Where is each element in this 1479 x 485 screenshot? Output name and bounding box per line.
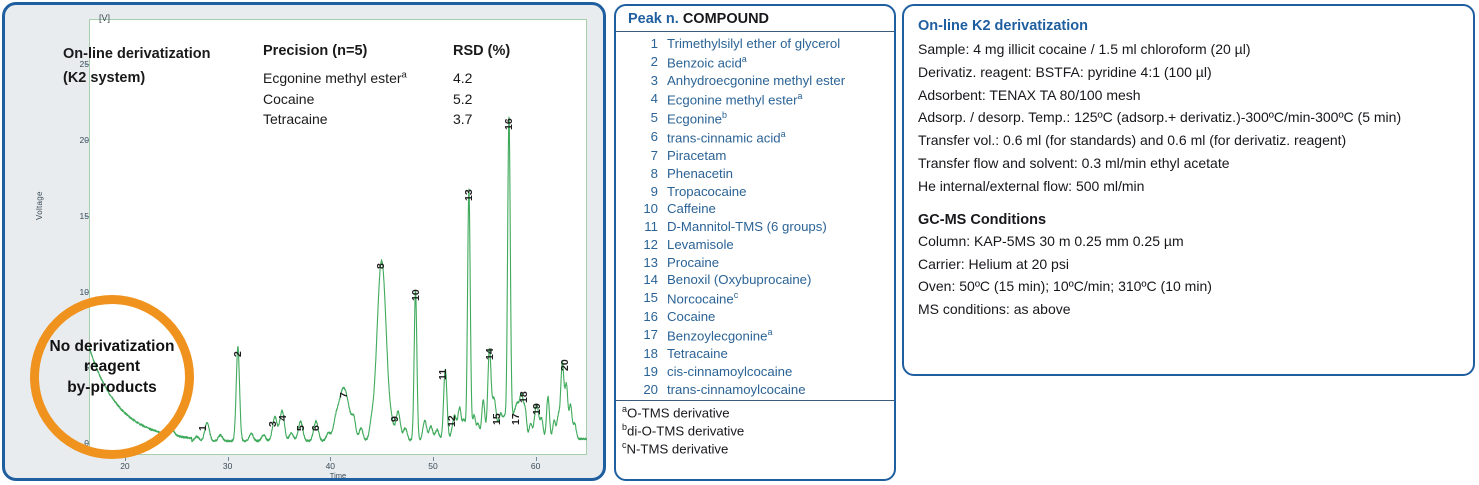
peak-number-header: Peak n.	[628, 11, 679, 27]
peak-item-number: 8	[616, 165, 667, 183]
peak-item-number: 2	[616, 53, 667, 72]
precision-rsd-value: 3.7	[453, 109, 553, 130]
precision-compound: Tetracaine	[263, 109, 453, 130]
overlay-title-line2: (K2 system)	[63, 67, 263, 91]
rsd-value-list: 4.25.23.7	[453, 68, 553, 130]
peak-number-label: 10	[410, 289, 422, 301]
peak-number-label: 13	[463, 189, 475, 201]
peak-item-compound: Ecgonine methyl estera	[667, 90, 894, 109]
peak-list-item[interactable]: 12Levamisole	[616, 236, 894, 254]
peak-list-item[interactable]: 18Tetracaine	[616, 345, 894, 363]
condition-line: Derivatiz. reagent: BSTFA: pyridine 4:1 …	[918, 61, 1459, 84]
x-tick-label: 60	[531, 461, 540, 471]
precision-compound: Cocaine	[263, 89, 453, 110]
peak-list-item[interactable]: 20trans-cinnamoylcocaine	[616, 381, 894, 399]
peak-number-label: 2	[232, 351, 244, 357]
peak-item-number: 3	[616, 72, 667, 90]
precision-name-list: Ecgonine methyl esteraCocaineTetracaine	[263, 68, 453, 130]
condition-line: He internal/external flow: 500 ml/min	[918, 175, 1459, 198]
peak-list-item[interactable]: 11D-Mannitol-TMS (6 groups)	[616, 218, 894, 236]
peak-item-number: 11	[616, 218, 667, 236]
footnote-marker: c	[734, 290, 738, 300]
rsd-header: RSD (%)	[453, 43, 553, 59]
peak-item-compound: Benzoylecgoninea	[667, 326, 894, 345]
peak-item-compound: trans-cinnamic acida	[667, 128, 894, 147]
peak-item-number: 4	[616, 90, 667, 109]
y-tick-label: 10	[55, 287, 89, 297]
gcms-condition-line: Column: KAP-5MS 30 m 0.25 mm 0.25 µm	[918, 230, 1459, 253]
peak-list-item[interactable]: 15Norcocainec	[616, 289, 894, 308]
x-tick-mark	[536, 457, 537, 461]
chromatogram-panel: [V] Voltage 0510152025 2030405060 Time 1…	[2, 2, 606, 481]
condition-line: Adsorbent: TENAX TA 80/100 mesh	[918, 84, 1459, 107]
condition-line: Transfer flow and solvent: 0.3 ml/min et…	[918, 152, 1459, 175]
peak-number-label: 3	[267, 421, 279, 427]
peak-item-compound: Procaine	[667, 254, 894, 272]
peak-item-number: 5	[616, 109, 667, 128]
peak-list-item[interactable]: 10Caffeine	[616, 200, 894, 218]
peak-number-label: 9	[389, 416, 401, 422]
peak-item-number: 6	[616, 128, 667, 147]
footnote-marker: a	[622, 404, 627, 414]
peak-item-compound: trans-cinnamoylcocaine	[667, 381, 894, 399]
peak-number-label: 15	[491, 413, 503, 425]
peak-item-compound: Benzoic acida	[667, 53, 894, 72]
peak-item-compound: Trimethylsilyl ether of glycerol	[667, 35, 894, 53]
x-tick-label: 20	[120, 461, 129, 471]
x-tick-mark	[330, 457, 331, 461]
footnote-line: bdi-O-TMS derivative	[622, 422, 894, 440]
peak-number-label: 7	[338, 392, 350, 398]
peak-number-label: 12	[446, 415, 458, 427]
footnote-marker: a	[797, 91, 802, 101]
peak-number-label: 18	[518, 392, 530, 404]
x-tick-mark	[228, 457, 229, 461]
peak-number-label: 19	[531, 403, 543, 415]
gcms-line-list: Column: KAP-5MS 30 m 0.25 mm 0.25 µmCarr…	[918, 230, 1459, 321]
peak-table-header: Peak n. COMPOUND	[616, 6, 894, 32]
peak-item-compound: Caffeine	[667, 200, 894, 218]
peak-list-item[interactable]: 7Piracetam	[616, 147, 894, 165]
peak-number-label: 6	[310, 425, 322, 431]
peak-number-label: 11	[437, 369, 449, 380]
peak-list-item[interactable]: 4Ecgonine methyl estera	[616, 90, 894, 109]
precision-column: Precision (n=5) Ecgonine methyl esteraCo…	[263, 43, 453, 130]
gcms-condition-line: Carrier: Helium at 20 psi	[918, 253, 1459, 276]
peak-item-number: 19	[616, 363, 667, 381]
y-tick-label: 15	[55, 211, 89, 221]
peak-list-item[interactable]: 3Anhydroecgonine methyl ester	[616, 72, 894, 90]
peak-item-number: 18	[616, 345, 667, 363]
x-tick-label: 30	[223, 461, 232, 471]
peak-item-number: 12	[616, 236, 667, 254]
overlay-title: On-line derivatization (K2 system)	[63, 43, 263, 91]
peak-item-number: 13	[616, 254, 667, 272]
peak-item-number: 9	[616, 183, 667, 201]
conditions-title: On-line K2 derivatization	[918, 18, 1459, 34]
peak-number-label: 1	[197, 425, 209, 431]
conditions-line-list: Sample: 4 mg illicit cocaine / 1.5 ml ch…	[918, 38, 1459, 198]
peak-list-item[interactable]: 17Benzoylecgoninea	[616, 326, 894, 345]
footnote-marker: a	[742, 54, 747, 64]
peak-list-item[interactable]: 2Benzoic acida	[616, 53, 894, 72]
peak-item-number: 10	[616, 200, 667, 218]
peak-item-compound: Tropacocaine	[667, 183, 894, 201]
annotation-line-1: No derivatization	[13, 337, 211, 357]
precision-rsd-value: 4.2	[453, 68, 553, 89]
footnote-marker: a	[781, 129, 786, 139]
peak-item-number: 17	[616, 326, 667, 345]
footnote-line: aO-TMS derivative	[622, 404, 894, 422]
peak-list-item[interactable]: 5Ecgonineb	[616, 109, 894, 128]
precision-compound: Ecgonine methyl estera	[263, 68, 453, 89]
peak-item-number: 7	[616, 147, 667, 165]
peak-list-item[interactable]: 1Trimethylsilyl ether of glycerol	[616, 35, 894, 53]
x-tick-label: 40	[326, 461, 335, 471]
y-axis-label: Voltage	[35, 191, 44, 220]
gcms-condition-line: MS conditions: as above	[918, 298, 1459, 321]
footnote-marker: a	[402, 69, 407, 80]
peak-item-compound: Phenacetin	[667, 165, 894, 183]
gcms-title: GC-MS Conditions	[918, 212, 1459, 228]
footnote-line: cN-TMS derivative	[622, 440, 894, 458]
peak-number-label: 5	[295, 425, 307, 431]
annotation-line-3: by-products	[13, 378, 211, 398]
conditions-spacer	[918, 198, 1459, 212]
peak-item-number: 16	[616, 308, 667, 326]
peak-list-item[interactable]: 14Benoxil (Oxybuprocaine)	[616, 271, 894, 289]
footnote-marker: b	[622, 422, 627, 432]
footnote-marker: c	[622, 440, 626, 450]
condition-line: Transfer vol.: 0.6 ml (for standards) an…	[918, 129, 1459, 152]
peak-item-compound: cis-cinnamoylcocaine	[667, 363, 894, 381]
annotation-line-2: reagent	[13, 357, 211, 377]
peak-item-number: 15	[616, 289, 667, 308]
peak-item-compound: D-Mannitol-TMS (6 groups)	[667, 218, 894, 236]
peak-item-number: 20	[616, 381, 667, 399]
y-tick-label: 20	[55, 135, 89, 145]
gcms-condition-line: Oven: 50ºC (15 min); 10ºC/min; 310ºC (10…	[918, 275, 1459, 298]
overlay-title-line1: On-line derivatization	[63, 43, 263, 67]
peak-list-item[interactable]: 16Cocaine	[616, 308, 894, 326]
peak-list-item[interactable]: 6trans-cinnamic acida	[616, 128, 894, 147]
footnote-marker: a	[767, 327, 772, 337]
peak-item-compound: Piracetam	[667, 147, 894, 165]
footnote-marker: b	[722, 110, 727, 120]
peak-list-item[interactable]: 9Tropacocaine	[616, 183, 894, 201]
precision-header: Precision (n=5)	[263, 43, 453, 59]
precision-rsd-value: 5.2	[453, 89, 553, 110]
peak-item-compound: Tetracaine	[667, 345, 894, 363]
peak-list-panel: Peak n. COMPOUND 1Trimethylsilyl ether o…	[614, 4, 896, 481]
condition-line: Adsorp. / desorp. Temp.: 125ºC (adsorp.+…	[918, 106, 1459, 129]
peak-item-compound: Cocaine	[667, 308, 894, 326]
peak-list-item[interactable]: 8Phenacetin	[616, 165, 894, 183]
peak-footnotes: aO-TMS derivativebdi-O-TMS derivativecN-…	[616, 400, 894, 458]
peak-number-label: 17	[510, 413, 522, 425]
peak-number-label: 20	[559, 360, 571, 372]
peak-list-item[interactable]: 13Procaine	[616, 254, 894, 272]
conditions-panel: On-line K2 derivatization Sample: 4 mg i…	[902, 4, 1475, 376]
condition-line: Sample: 4 mg illicit cocaine / 1.5 ml ch…	[918, 38, 1459, 61]
x-axis-label: Time	[89, 471, 587, 480]
peak-item-compound: Ecgonineb	[667, 109, 894, 128]
peak-number-label: 14	[484, 348, 496, 360]
peak-item-number: 1	[616, 35, 667, 53]
compound-header: COMPOUND	[683, 11, 769, 27]
peak-list-item[interactable]: 19cis-cinnamoylcocaine	[616, 363, 894, 381]
rsd-column: RSD (%) 4.25.23.7	[453, 43, 553, 130]
peak-item-compound: Levamisole	[667, 236, 894, 254]
peak-item-compound: Norcocainec	[667, 289, 894, 308]
x-tick-label: 50	[428, 461, 437, 471]
peak-item-compound: Benoxil (Oxybuprocaine)	[667, 271, 894, 289]
peak-item-compound: Anhydroecgonine methyl ester	[667, 72, 894, 90]
annotation-text: No derivatization reagent by-products	[13, 337, 211, 398]
peak-number-label: 8	[375, 263, 387, 269]
peak-item-number: 14	[616, 271, 667, 289]
peak-rows: 1Trimethylsilyl ether of glycerol2Benzoi…	[616, 32, 894, 400]
peak-number-label: 4	[277, 415, 289, 421]
x-tick-mark	[433, 457, 434, 461]
